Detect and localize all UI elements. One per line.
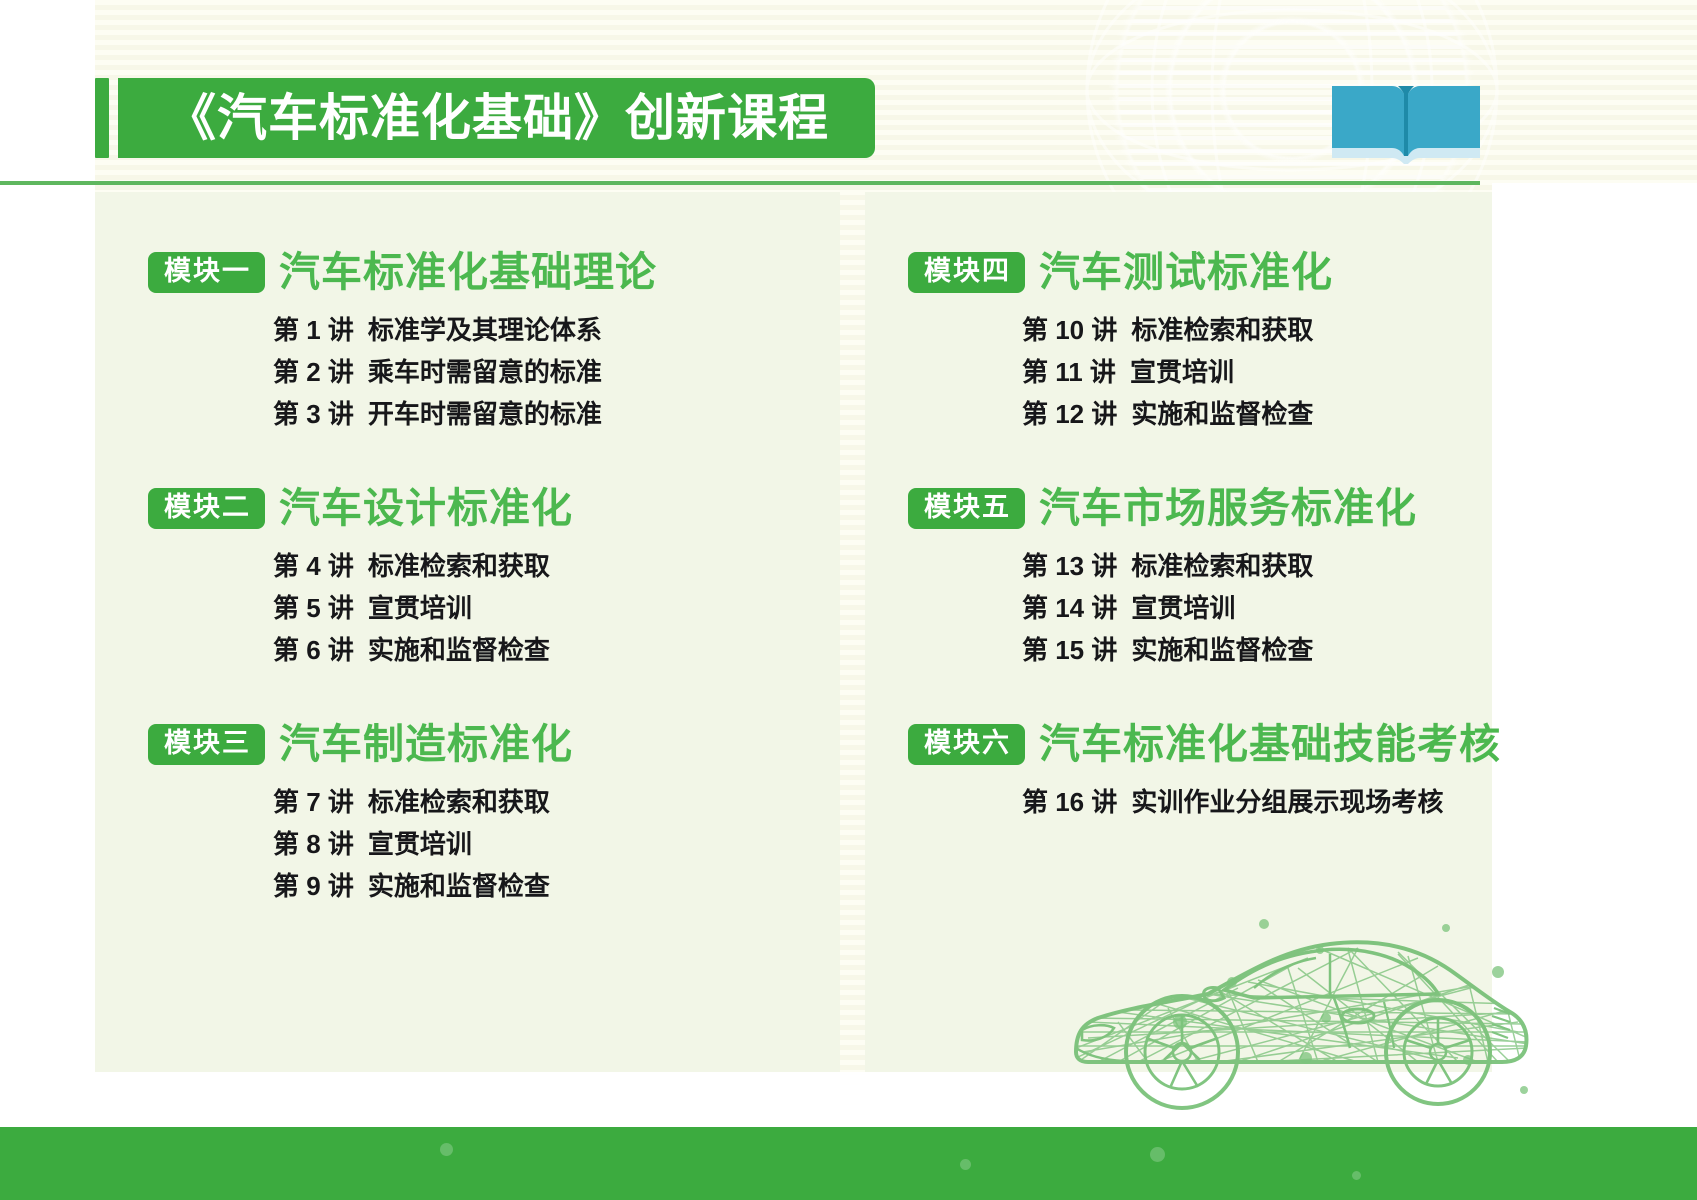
module-title-2: 汽车设计标准化: [279, 486, 573, 531]
lesson-spacer: [354, 309, 368, 351]
lesson-item[interactable]: 第 15 讲 实施和监督检查: [1022, 629, 1417, 671]
page-title: 《汽车标准化基础》创新课程: [166, 93, 829, 143]
lesson-spacer: [1117, 629, 1131, 671]
lesson-spacer: [1117, 781, 1131, 823]
lesson-name: 标准检索和获取: [368, 781, 550, 823]
lesson-name: 宣贯培训: [368, 823, 472, 865]
lesson-number: 第 6 讲: [273, 629, 354, 671]
lesson-list-4: 第 10 讲 标准检索和获取 第 11 讲 宣贯培训 第 12 讲 实施和监督检…: [908, 309, 1333, 435]
lesson-item[interactable]: 第 6 讲 实施和监督检查: [273, 629, 573, 671]
module-badge-6: 模块六: [908, 724, 1025, 766]
lesson-item[interactable]: 第 11 讲 宣贯培训: [1022, 351, 1333, 393]
page-margin-left: [0, 0, 95, 1200]
lesson-item[interactable]: 第 7 讲 标准检索和获取: [273, 781, 573, 823]
module-header-3: 模块三 汽车制造标准化: [148, 722, 573, 767]
lesson-item[interactable]: 第 8 讲 宣贯培训: [273, 823, 573, 865]
module-badge-4: 模块四: [908, 252, 1025, 294]
lesson-list-6: 第 16 讲 实训作业分组展示现场考核: [908, 781, 1501, 823]
module-title-6: 汽车标准化基础技能考核: [1039, 722, 1501, 767]
lesson-number: 第 9 讲: [273, 865, 354, 907]
lesson-spacer: [354, 393, 368, 435]
lesson-number: 第 1 讲: [273, 309, 354, 351]
lesson-name: 实训作业分组展示现场考核: [1131, 781, 1443, 823]
module-card-3[interactable]: 模块三 汽车制造标准化 第 7 讲 标准检索和获取 第 8 讲 宣贯培训 第 9…: [148, 722, 573, 907]
lesson-number: 第 2 讲: [273, 351, 354, 393]
lesson-spacer: [354, 781, 368, 823]
lesson-spacer: [1116, 351, 1130, 393]
module-card-1[interactable]: 模块一 汽车标准化基础理论 第 1 讲 标准学及其理论体系 第 2 讲 乘车时需…: [148, 250, 657, 435]
lesson-name: 标准检索和获取: [1131, 545, 1313, 587]
module-title-1: 汽车标准化基础理论: [279, 250, 657, 295]
lesson-name: 实施和监督检查: [1131, 393, 1313, 435]
lesson-spacer: [354, 545, 368, 587]
lesson-spacer: [1117, 309, 1131, 351]
header-accent-bar: [95, 78, 109, 158]
lesson-item[interactable]: 第 12 讲 实施和监督检查: [1022, 393, 1333, 435]
module-badge-5: 模块五: [908, 488, 1025, 530]
lesson-name: 宣贯培训: [1130, 351, 1234, 393]
lesson-number: 第 12 讲: [1022, 393, 1117, 435]
open-book-icon: [1332, 86, 1480, 166]
lesson-name: 实施和监督检查: [1131, 629, 1313, 671]
header-banner: 《汽车标准化基础》创新课程: [95, 78, 875, 158]
lesson-spacer: [1117, 545, 1131, 587]
module-card-4[interactable]: 模块四 汽车测试标准化 第 10 讲 标准检索和获取 第 11 讲 宣贯培训 第…: [908, 250, 1333, 435]
lesson-name: 乘车时需留意的标准: [368, 351, 602, 393]
lesson-item[interactable]: 第 10 讲 标准检索和获取: [1022, 309, 1333, 351]
module-header-4: 模块四 汽车测试标准化: [908, 250, 1333, 295]
lesson-number: 第 15 讲: [1022, 629, 1117, 671]
module-title-5: 汽车市场服务标准化: [1039, 486, 1417, 531]
lesson-item[interactable]: 第 5 讲 宣贯培训: [273, 587, 573, 629]
header-divider-rule: [0, 181, 1480, 185]
footer-dot: [1150, 1147, 1165, 1162]
footer-dot: [440, 1143, 453, 1156]
lesson-name: 标准检索和获取: [368, 545, 550, 587]
lesson-spacer: [354, 629, 368, 671]
lesson-number: 第 10 讲: [1022, 309, 1117, 351]
lesson-list-2: 第 4 讲 标准检索和获取 第 5 讲 宣贯培训 第 6 讲 实施和监督检查: [148, 545, 573, 671]
lesson-spacer: [354, 823, 368, 865]
lesson-number: 第 16 讲: [1022, 781, 1117, 823]
footer-dot: [1352, 1171, 1361, 1180]
module-title-3: 汽车制造标准化: [279, 722, 573, 767]
lesson-number: 第 4 讲: [273, 545, 354, 587]
lesson-name: 宣贯培训: [1131, 587, 1235, 629]
lesson-number: 第 3 讲: [273, 393, 354, 435]
footer-dot: [960, 1159, 971, 1170]
lesson-spacer: [354, 351, 368, 393]
lesson-name: 宣贯培训: [368, 587, 472, 629]
lesson-number: 第 7 讲: [273, 781, 354, 823]
lesson-item[interactable]: 第 14 讲 宣贯培训: [1022, 587, 1417, 629]
lesson-item[interactable]: 第 4 讲 标准检索和获取: [273, 545, 573, 587]
lesson-item[interactable]: 第 3 讲 开车时需留意的标准: [273, 393, 657, 435]
lesson-item[interactable]: 第 9 讲 实施和监督检查: [273, 865, 573, 907]
lesson-name: 标准学及其理论体系: [368, 309, 602, 351]
header-banner-body: 《汽车标准化基础》创新课程: [118, 78, 875, 158]
lesson-item[interactable]: 第 2 讲 乘车时需留意的标准: [273, 351, 657, 393]
module-card-5[interactable]: 模块五 汽车市场服务标准化 第 13 讲 标准检索和获取 第 14 讲 宣贯培训…: [908, 486, 1417, 671]
module-badge-2: 模块二: [148, 488, 265, 530]
module-badge-3: 模块三: [148, 724, 265, 766]
footer-bar: [0, 1127, 1697, 1200]
module-title-4: 汽车测试标准化: [1039, 250, 1333, 295]
lesson-item[interactable]: 第 13 讲 标准检索和获取: [1022, 545, 1417, 587]
lesson-name: 实施和监督检查: [368, 865, 550, 907]
module-header-6: 模块六 汽车标准化基础技能考核: [908, 722, 1501, 767]
lesson-name: 标准检索和获取: [1131, 309, 1313, 351]
module-card-2[interactable]: 模块二 汽车设计标准化 第 4 讲 标准检索和获取 第 5 讲 宣贯培训 第 6…: [148, 486, 573, 671]
lesson-list-1: 第 1 讲 标准学及其理论体系 第 2 讲 乘车时需留意的标准 第 3 讲 开车…: [148, 309, 657, 435]
lesson-spacer: [1117, 393, 1131, 435]
module-badge-1: 模块一: [148, 252, 265, 294]
lesson-item[interactable]: 第 1 讲 标准学及其理论体系: [273, 309, 657, 351]
lesson-spacer: [1117, 587, 1131, 629]
lesson-name: 开车时需留意的标准: [368, 393, 602, 435]
lesson-number: 第 11 讲: [1022, 351, 1116, 393]
lesson-number: 第 8 讲: [273, 823, 354, 865]
lesson-spacer: [354, 865, 368, 907]
lesson-number: 第 13 讲: [1022, 545, 1117, 587]
module-header-5: 模块五 汽车市场服务标准化: [908, 486, 1417, 531]
lesson-list-3: 第 7 讲 标准检索和获取 第 8 讲 宣贯培训 第 9 讲 实施和监督检查: [148, 781, 573, 907]
lesson-number: 第 5 讲: [273, 587, 354, 629]
lesson-name: 实施和监督检查: [368, 629, 550, 671]
page-margin-right: [1492, 183, 1697, 1200]
module-header-2: 模块二 汽车设计标准化: [148, 486, 573, 531]
module-card-6[interactable]: 模块六 汽车标准化基础技能考核 第 16 讲 实训作业分组展示现场考核: [908, 722, 1501, 823]
lesson-number: 第 14 讲: [1022, 587, 1117, 629]
lesson-spacer: [354, 587, 368, 629]
lesson-item[interactable]: 第 16 讲 实训作业分组展示现场考核: [1022, 781, 1501, 823]
lesson-list-5: 第 13 讲 标准检索和获取 第 14 讲 宣贯培训 第 15 讲 实施和监督检…: [908, 545, 1417, 671]
module-header-1: 模块一 汽车标准化基础理论: [148, 250, 657, 295]
